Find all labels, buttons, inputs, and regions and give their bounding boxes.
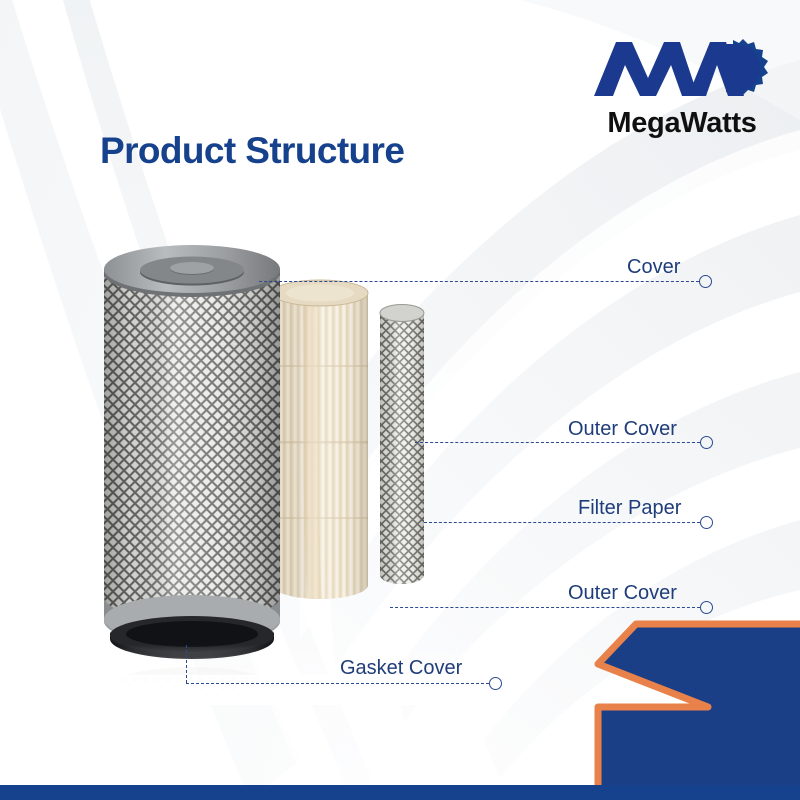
brand-logo: MegaWatts <box>592 34 772 144</box>
brand-wordmark: MegaWatts <box>592 106 772 140</box>
product-photo <box>80 245 460 705</box>
callout-dot-filter-paper <box>700 516 713 529</box>
infographic-canvas: MegaWatts Product Structure <box>0 0 800 800</box>
callout-dot-cover <box>699 275 712 288</box>
corner-chevron-decoration <box>590 592 800 800</box>
callout-line-cover <box>259 281 699 282</box>
megawatts-m-gear-logo-icon <box>592 34 772 106</box>
callout-line-outer-cover-bottom <box>390 607 700 608</box>
callout-line-gasket-cover-vertical <box>186 645 187 683</box>
callout-line-gasket-cover <box>186 683 489 684</box>
callout-line-filter-paper <box>424 522 700 523</box>
callout-label-cover: Cover <box>627 255 680 279</box>
callout-line-outer-cover-top <box>415 442 700 443</box>
callout-dot-gasket-cover <box>489 677 502 690</box>
bottom-bar <box>0 785 800 800</box>
callout-dot-outer-cover-top <box>700 436 713 449</box>
callout-label-gasket-cover: Gasket Cover <box>340 656 462 680</box>
callout-label-outer-cover-top: Outer Cover <box>568 417 677 441</box>
callout-dot-outer-cover-bottom <box>700 601 713 614</box>
callout-label-outer-cover-bottom: Outer Cover <box>568 581 677 605</box>
page-title: Product Structure <box>100 129 404 173</box>
callout-label-filter-paper: Filter Paper <box>578 496 681 520</box>
